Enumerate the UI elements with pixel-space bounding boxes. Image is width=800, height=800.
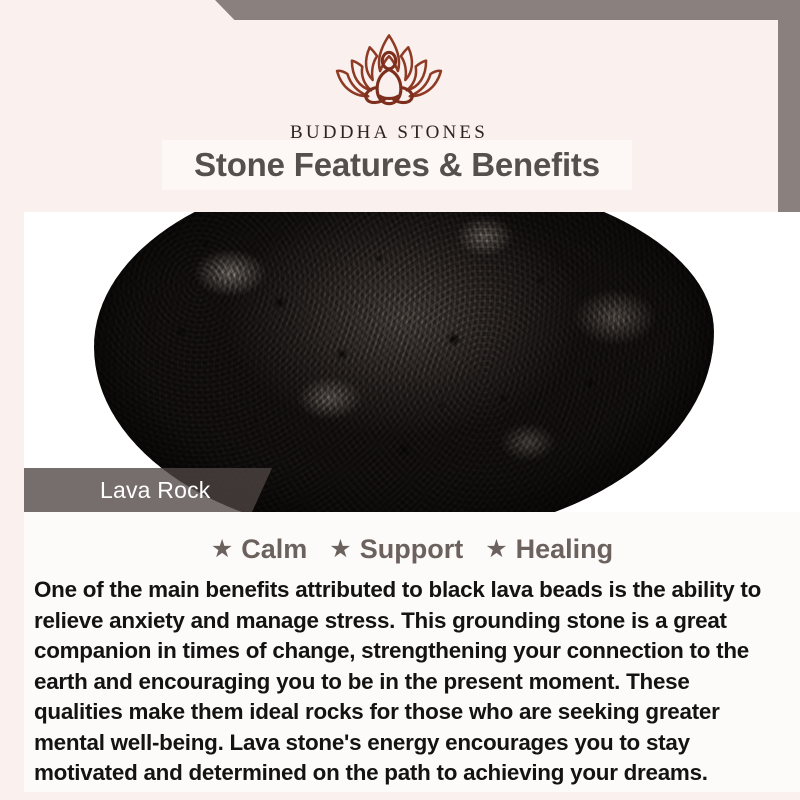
benefit-label-support: Support	[360, 534, 463, 565]
benefit-label-calm: Calm	[241, 534, 307, 565]
lotus-meditation-icon	[314, 28, 464, 120]
title-banner: Stone Features & Benefits	[162, 140, 632, 190]
star-icon: ★	[211, 537, 233, 562]
content-sheet: BUDDHA STONES Lava Rock ★ Calm ★ Support	[0, 20, 778, 800]
lava-rock-shape	[94, 212, 714, 512]
lava-rock-photo	[24, 212, 800, 512]
description-text: One of the main benefits attributed to b…	[34, 575, 784, 789]
benefits-row: ★ Calm ★ Support ★ Healing	[24, 512, 800, 565]
photo-caption-bar: Lava Rock	[24, 468, 272, 512]
benefit-item-calm: ★ Calm	[211, 534, 307, 565]
photo-caption-label: Lava Rock	[24, 477, 210, 504]
page-title: Stone Features & Benefits	[194, 146, 600, 184]
star-icon: ★	[329, 537, 351, 562]
benefit-item-healing: ★ Healing	[485, 534, 613, 565]
infographic-page: BUDDHA STONES Lava Rock ★ Calm ★ Support	[0, 0, 800, 800]
description-card: ★ Calm ★ Support ★ Healing One of the ma…	[24, 512, 800, 792]
benefit-label-healing: Healing	[516, 534, 614, 565]
lava-rock-texture	[94, 212, 714, 512]
star-icon: ★	[485, 537, 507, 562]
benefit-item-support: ★ Support	[329, 534, 463, 565]
brand-header: BUDDHA STONES	[0, 20, 778, 144]
